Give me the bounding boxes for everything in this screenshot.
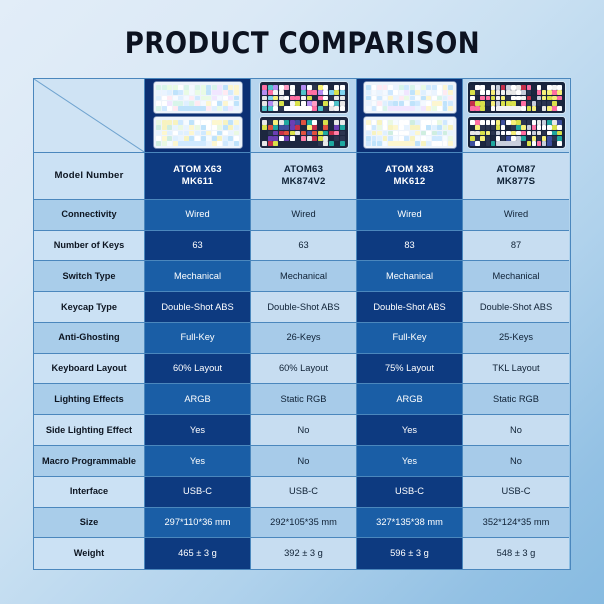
row-label-lighting-effects: Lighting Effects [34, 384, 144, 415]
keycap [290, 90, 295, 95]
keycap [340, 96, 345, 101]
keycap [295, 85, 300, 90]
cell-side-lighting-effect: No [463, 415, 569, 446]
keycap [273, 96, 278, 101]
keycap [262, 85, 267, 90]
keycap [329, 136, 334, 141]
keycap [432, 96, 437, 101]
keycap [399, 101, 404, 106]
cell-number-of-keys: 83 [357, 231, 462, 262]
keycap [491, 125, 495, 130]
keycap [475, 96, 479, 101]
keycap [195, 125, 200, 130]
keycap [443, 96, 448, 101]
keycap [470, 101, 474, 106]
keycap [443, 125, 448, 130]
keycap [162, 106, 167, 111]
keycap [329, 120, 334, 125]
keycap [323, 101, 328, 106]
keycap [542, 131, 546, 136]
keycap [201, 85, 206, 90]
row-label-connectivity: Connectivity [34, 200, 144, 231]
keycap [318, 85, 323, 90]
keycap [486, 141, 490, 146]
keycap [312, 120, 317, 125]
keycap [448, 85, 453, 90]
keycap [426, 101, 431, 106]
keycap [290, 120, 295, 125]
keycap [415, 125, 420, 130]
cell-interface: USB-C [357, 477, 462, 508]
keycap [268, 101, 273, 106]
keycap [217, 131, 222, 136]
keycap [516, 125, 520, 130]
cell-weight: 392 ± 3 g [251, 538, 356, 569]
keycap [516, 120, 520, 125]
keycap [372, 125, 377, 130]
keycap [437, 141, 442, 146]
keycap [162, 101, 167, 106]
keycap [217, 85, 222, 90]
keycap [557, 90, 561, 95]
keycap [486, 106, 490, 111]
keycap [268, 85, 273, 90]
keycap [340, 90, 345, 95]
keycap [383, 96, 388, 101]
keycap [552, 90, 556, 95]
product-column-atom63[interactable]: ATOM63 MK874V2 Wired 63 Mechanical Doubl… [251, 79, 357, 569]
keycap [448, 120, 453, 125]
keycap [290, 101, 295, 106]
keycap [206, 101, 211, 106]
cell-macro-programmable: No [463, 446, 569, 477]
keycap [426, 141, 431, 146]
keyboard-image-atom87-bottom [468, 117, 565, 148]
keycap [334, 141, 339, 146]
keycap [167, 85, 172, 90]
keycap [516, 101, 520, 106]
keycap [318, 96, 323, 101]
keycap [383, 90, 388, 95]
product-image-cell-atom63 [251, 79, 356, 153]
keycap [486, 131, 490, 136]
keycap [189, 90, 194, 95]
keycap [262, 136, 267, 141]
keycap [511, 90, 515, 95]
keycap [399, 120, 404, 125]
keycap [426, 96, 431, 101]
keycap [415, 101, 420, 106]
keycap [432, 136, 437, 141]
keycap [167, 90, 172, 95]
keycap [273, 101, 278, 106]
keycap [189, 85, 194, 90]
keycap [426, 120, 431, 125]
product-column-atom87[interactable]: ATOM87 MK877S Wired 87 Mechanical Double… [463, 79, 569, 569]
keycap [223, 101, 228, 106]
keycap [480, 96, 484, 101]
keycap [195, 85, 200, 90]
keycap [323, 90, 328, 95]
keycap [162, 136, 167, 141]
keycap [421, 101, 426, 106]
keycap [475, 106, 479, 111]
keycap [366, 136, 371, 141]
keycap [421, 85, 426, 90]
keycap [383, 131, 388, 136]
keycap [511, 96, 515, 101]
keycap [312, 106, 317, 111]
keycap [443, 120, 448, 125]
keycap [366, 141, 371, 146]
keycap [448, 90, 453, 95]
keycap [443, 106, 448, 111]
cell-anti-ghosting: 26-Keys [251, 323, 356, 354]
keycap [234, 125, 239, 130]
keycap [506, 90, 510, 95]
keycap [318, 120, 323, 125]
keycap [437, 96, 442, 101]
keycap [532, 90, 536, 95]
keycap [228, 141, 233, 146]
keycap [212, 125, 217, 130]
keycap [383, 125, 388, 130]
keycap [217, 125, 222, 130]
keycap [480, 131, 484, 136]
keycap [184, 131, 189, 136]
keycap [223, 136, 228, 141]
keycap [377, 85, 382, 90]
keycap [307, 101, 312, 106]
keycap [212, 85, 217, 90]
keyboard-image-atom63-top [260, 82, 348, 113]
keycap [340, 101, 345, 106]
cell-lighting-effects: Static RGB [251, 384, 356, 415]
keycap [234, 101, 239, 106]
keycap [432, 131, 437, 136]
keycap [334, 136, 339, 141]
keycap [521, 85, 525, 90]
keycap [491, 106, 495, 111]
keycap [284, 85, 289, 90]
keycap [178, 125, 183, 130]
keycap [173, 90, 178, 95]
keycap [201, 96, 206, 101]
keycap [470, 136, 474, 141]
keycap [234, 85, 239, 90]
keycap [184, 120, 189, 125]
keycap [301, 120, 306, 125]
keycap [268, 125, 273, 130]
keycap [527, 125, 531, 130]
keycap [496, 90, 500, 95]
keycap [537, 106, 541, 111]
keycap [167, 96, 172, 101]
keyboard-image-atom-x83-bottom [364, 117, 456, 148]
keycap [377, 120, 382, 125]
product-comparison-table: Model Number Connectivity Number of Keys… [33, 78, 571, 570]
keycap [532, 141, 536, 146]
keycap [537, 120, 541, 125]
keycap [552, 106, 556, 111]
keycap [173, 101, 178, 106]
keycap [501, 125, 505, 130]
row-label-macro-programmable: Macro Programmable [34, 446, 144, 477]
cell-anti-ghosting: Full-Key [145, 323, 250, 354]
keycap [426, 125, 431, 130]
keycap [532, 120, 536, 125]
keycap [228, 85, 233, 90]
keycap [329, 106, 334, 111]
keycap [547, 125, 551, 130]
keycap [532, 96, 536, 101]
keycap [228, 125, 233, 130]
keycap [377, 136, 382, 141]
keyboard-image-atom87-top [468, 82, 565, 113]
keycap [329, 131, 334, 136]
product-model-atom-x83: ATOM X83 MK612 [357, 153, 462, 200]
keycap [273, 106, 278, 111]
keycap [228, 90, 233, 95]
keyboard-image-atom-x63-bottom [154, 117, 242, 148]
keycap [432, 101, 437, 106]
keycap [527, 101, 531, 106]
keycap [301, 85, 306, 90]
keycap [415, 96, 420, 101]
keycap [506, 136, 510, 141]
keycap [547, 136, 551, 141]
cell-side-lighting-effect: Yes [145, 415, 250, 446]
keycap [421, 96, 426, 101]
keycap [162, 90, 167, 95]
keycap [415, 85, 420, 90]
keycap [399, 131, 404, 136]
keycap [410, 136, 415, 141]
keycap [470, 125, 474, 130]
keycap [516, 85, 520, 90]
cell-macro-programmable: No [251, 446, 356, 477]
product-column-atom-x83[interactable]: ATOM X83 MK612 Wired 83 Mechanical Doubl… [357, 79, 463, 569]
keycap [223, 131, 228, 136]
keycap [372, 141, 377, 146]
keycap [547, 141, 551, 146]
keycap [184, 96, 189, 101]
keycap [443, 141, 448, 146]
keycap [372, 96, 377, 101]
keycap [491, 90, 495, 95]
keycap [448, 141, 453, 146]
keycap [527, 131, 531, 136]
keycap [162, 141, 167, 146]
keycap [537, 131, 541, 136]
keycap [201, 120, 206, 125]
keycap [262, 120, 267, 125]
cell-lighting-effects: ARGB [357, 384, 462, 415]
keycap [470, 96, 474, 101]
keycap [234, 120, 239, 125]
keycap [377, 125, 382, 130]
keycap [532, 101, 536, 106]
keycap [279, 85, 284, 90]
keycap [268, 131, 273, 136]
keycap [404, 101, 409, 106]
keycap [501, 90, 505, 95]
keycap [262, 101, 267, 106]
keycap [334, 131, 339, 136]
keycap [184, 85, 189, 90]
keycap [383, 120, 388, 125]
keycap [491, 120, 495, 125]
keycap [334, 90, 339, 95]
keycap [480, 85, 484, 90]
keycap [377, 106, 382, 111]
keycap [223, 96, 228, 101]
keycap [399, 136, 404, 141]
keycap [415, 90, 420, 95]
keycap [312, 85, 317, 90]
keycap [334, 106, 339, 111]
keycap [521, 125, 525, 130]
keycap [312, 131, 317, 136]
row-label-switch-type: Switch Type [34, 261, 144, 292]
keycap [206, 120, 211, 125]
keycap [329, 85, 334, 90]
cell-connectivity: Wired [251, 200, 356, 231]
keycap [404, 120, 409, 125]
keycap [268, 106, 273, 111]
keycap [189, 101, 194, 106]
keycap [206, 125, 211, 130]
keycap [399, 85, 404, 90]
keycap [318, 90, 323, 95]
keycap [217, 106, 222, 111]
cell-weight: 548 ± 3 g [463, 538, 569, 569]
cell-size: 352*124*35 mm [463, 508, 569, 539]
keycap [279, 101, 284, 106]
keycap [415, 141, 420, 146]
keycap [421, 106, 426, 111]
table-label-column: Model Number Connectivity Number of Keys… [34, 79, 145, 569]
keycap [547, 96, 551, 101]
keycap [404, 96, 409, 101]
keycap [167, 131, 172, 136]
keycap [201, 131, 206, 136]
keycap [521, 136, 525, 141]
keycap [372, 120, 377, 125]
keycap [279, 141, 284, 146]
keycap [223, 120, 228, 125]
product-column-atom-x63[interactable]: ATOM X63 MK611 Wired 63 Mechanical Doubl… [145, 79, 251, 569]
keycap [448, 96, 453, 101]
keycap [323, 125, 328, 130]
keycap [307, 136, 312, 141]
keycap [521, 90, 525, 95]
keycap [312, 101, 317, 106]
keycap [284, 136, 289, 141]
keycap [486, 125, 490, 130]
keycap [552, 120, 556, 125]
keycap [372, 106, 377, 111]
row-label-number-of-keys: Number of Keys [34, 231, 144, 262]
keycap [410, 120, 415, 125]
keycap [162, 85, 167, 90]
keycap [273, 85, 278, 90]
keycap [393, 120, 398, 125]
keycap [178, 106, 205, 111]
keycap [178, 96, 183, 101]
keycap [318, 125, 323, 130]
keycap [448, 136, 453, 141]
keycap [366, 131, 371, 136]
row-label-anti-ghosting: Anti-Ghosting [34, 323, 144, 354]
keycap [537, 141, 541, 146]
keycap [223, 85, 228, 90]
product-model-atom63: ATOM63 MK874V2 [251, 153, 356, 200]
keycap [532, 136, 536, 141]
keycap [377, 141, 382, 146]
keycap [410, 90, 415, 95]
keycap [301, 131, 306, 136]
keycap [383, 85, 388, 90]
keycap [301, 96, 306, 101]
keyboard-image-atom-x83-top [364, 82, 456, 113]
keycap [527, 106, 531, 111]
cell-lighting-effects: Static RGB [463, 384, 569, 415]
keycap [329, 101, 334, 106]
keycap [410, 101, 415, 106]
keycap [156, 125, 161, 130]
keycap [323, 136, 328, 141]
cell-switch-type: Mechanical [251, 261, 356, 292]
keycap [279, 131, 284, 136]
keycap [448, 125, 453, 130]
keycap [377, 101, 382, 106]
keycap [537, 136, 541, 141]
keycap [284, 120, 289, 125]
cell-keycap-type: Double-Shot ABS [251, 292, 356, 323]
keycap [217, 120, 222, 125]
keycap [223, 141, 228, 146]
keycap [206, 106, 211, 111]
keycap [334, 96, 339, 101]
product-image-cell-atom-x63 [145, 79, 250, 153]
keycap [470, 141, 474, 146]
keycap [470, 90, 474, 95]
cell-switch-type: Mechanical [463, 261, 569, 292]
keycap [491, 96, 495, 101]
keycap [279, 106, 284, 111]
cell-size: 297*110*36 mm [145, 508, 250, 539]
keycap [475, 131, 479, 136]
keycap [432, 125, 437, 130]
keycap [334, 125, 339, 130]
keycap [366, 90, 371, 95]
keycap [228, 120, 233, 125]
keycap [206, 96, 211, 101]
keycap [372, 85, 377, 90]
keycap [318, 136, 323, 141]
keycap [307, 131, 312, 136]
cell-keyboard-layout: TKL Layout [463, 354, 569, 385]
keycap [301, 125, 306, 130]
keycap [201, 101, 206, 106]
keycap [532, 125, 536, 130]
keycap [383, 106, 388, 111]
cell-keycap-type: Double-Shot ABS [357, 292, 462, 323]
keycap [432, 120, 437, 125]
keycap [552, 96, 556, 101]
keycap [162, 125, 167, 130]
